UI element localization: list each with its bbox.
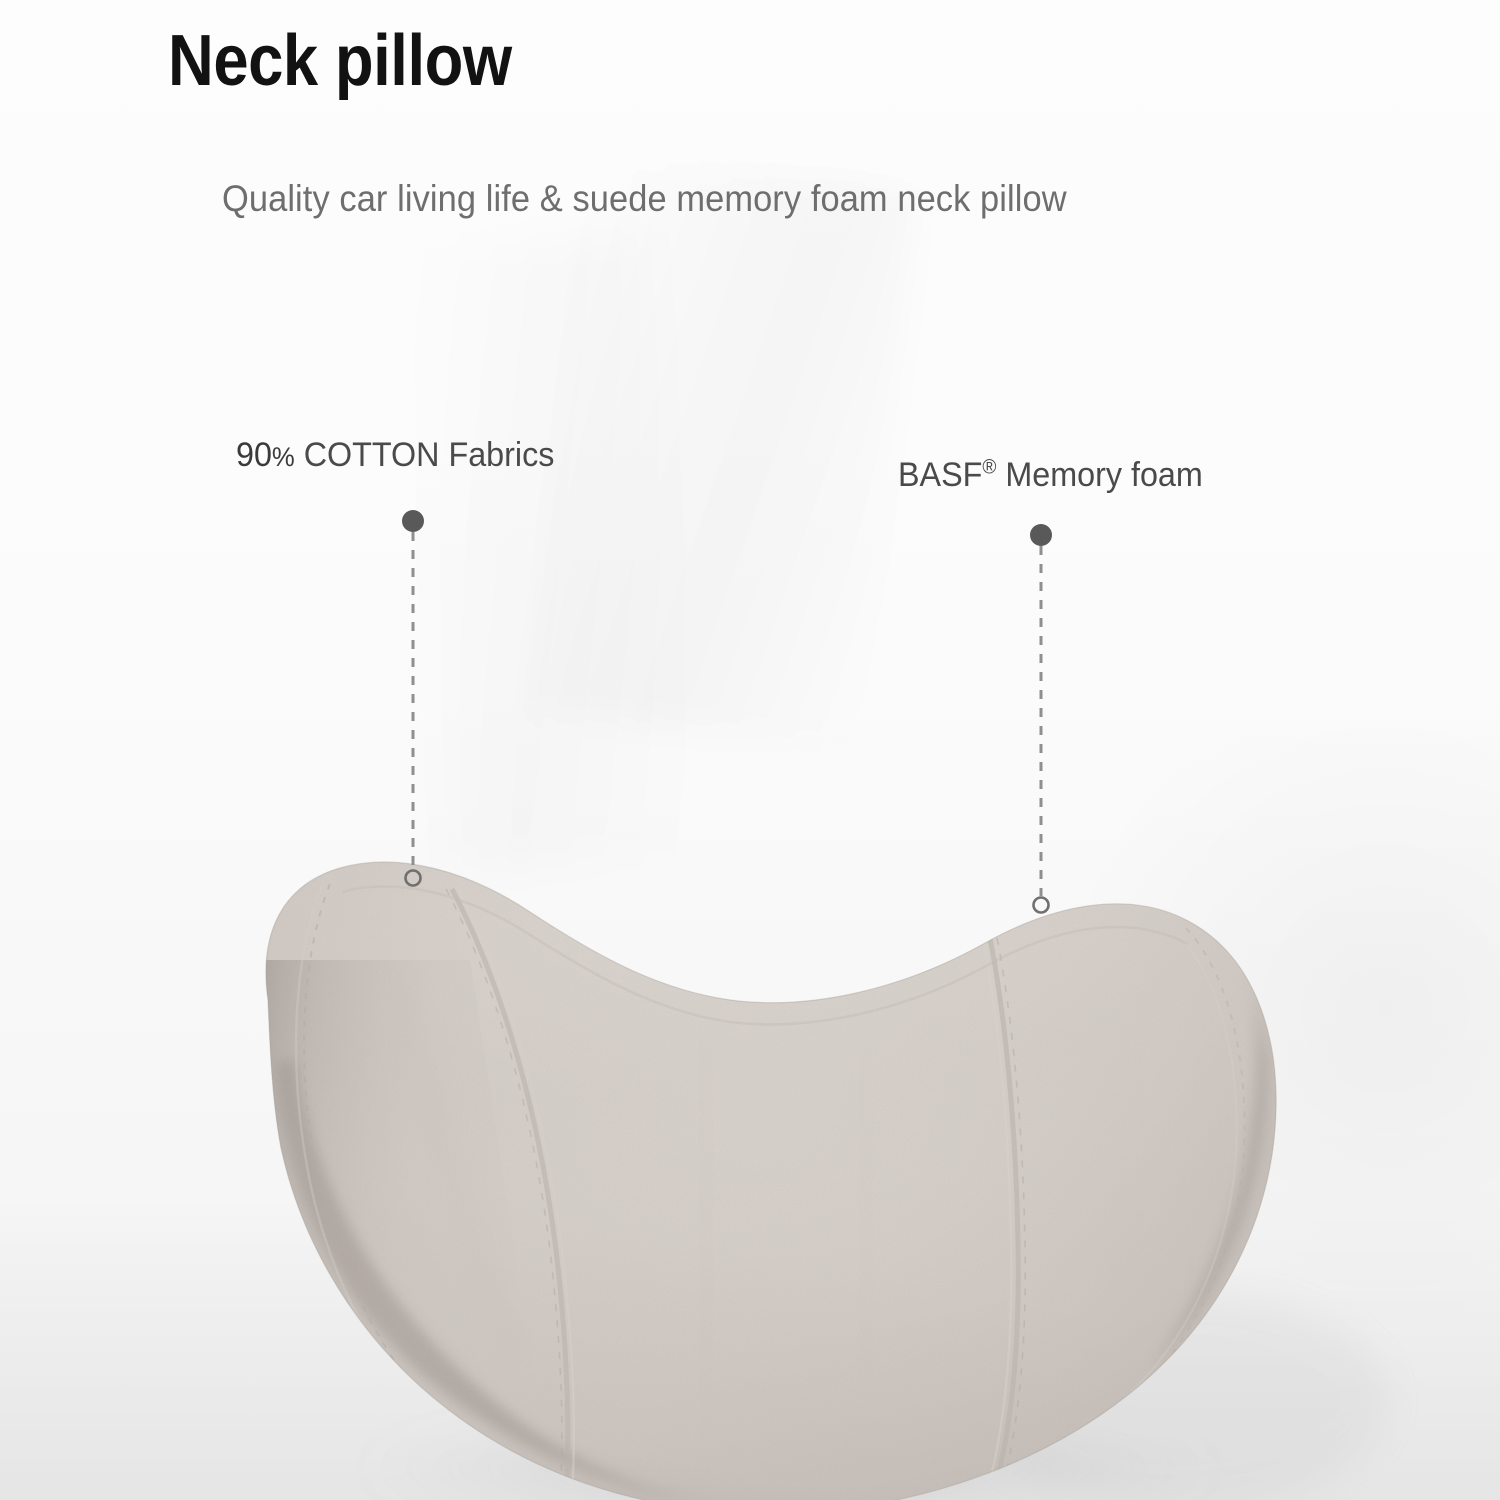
callout-basf-suffix: Memory foam [996, 456, 1202, 494]
callout-basf-brand: BASF [898, 456, 982, 494]
product-illustration [0, 0, 1500, 1500]
callout-label-basf: BASF® Memory foam [898, 456, 1203, 495]
pillow-svg [0, 0, 1500, 1500]
callout-cotton-material: COTTON [295, 436, 440, 474]
product-image-canvas: Neck pillow Quality car living life & su… [0, 0, 1500, 1500]
registered-trademark-icon: ® [982, 457, 996, 479]
callout-label-cotton: 90% COTTON Fabrics [236, 436, 554, 475]
callout-cotton-suffix: Fabrics [440, 436, 555, 474]
callout-cotton-value: 90 [236, 436, 272, 474]
callout-cotton-percent: % [272, 442, 295, 472]
